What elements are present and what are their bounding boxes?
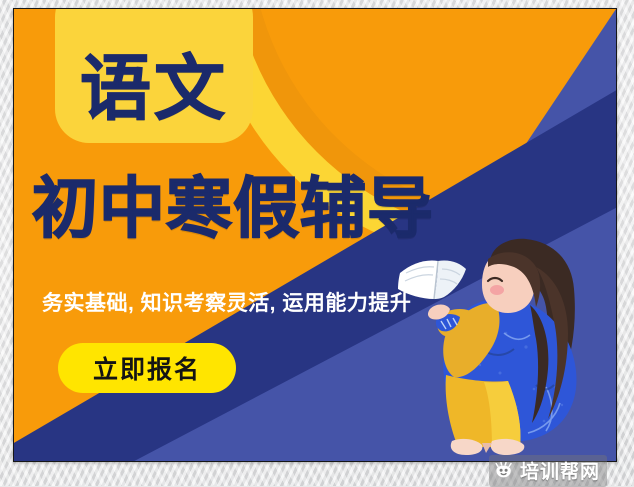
sun-face-icon — [494, 462, 514, 480]
page-background: 语文 初中寒假辅导 务实基础, 知识考察灵活, 运用能力提升 立即报名 培训帮网 — [0, 0, 634, 486]
enroll-now-button[interactable]: 立即报名 — [58, 343, 236, 393]
watermark: 培训帮网 — [489, 455, 607, 487]
subject-badge-label: 语文 — [80, 54, 228, 143]
course-promo-banner[interactable]: 语文 初中寒假辅导 务实基础, 知识考察灵活, 运用能力提升 立即报名 — [13, 8, 617, 462]
subject-badge: 语文 — [55, 8, 253, 143]
page-title: 初中寒假辅导 — [32, 175, 434, 241]
enroll-now-label: 立即报名 — [93, 350, 201, 386]
woman-reading-illustration — [396, 237, 616, 461]
poster-subtitle: 务实基础, 知识考察灵活, 运用能力提升 — [42, 293, 411, 314]
watermark-text: 培训帮网 — [520, 457, 600, 484]
